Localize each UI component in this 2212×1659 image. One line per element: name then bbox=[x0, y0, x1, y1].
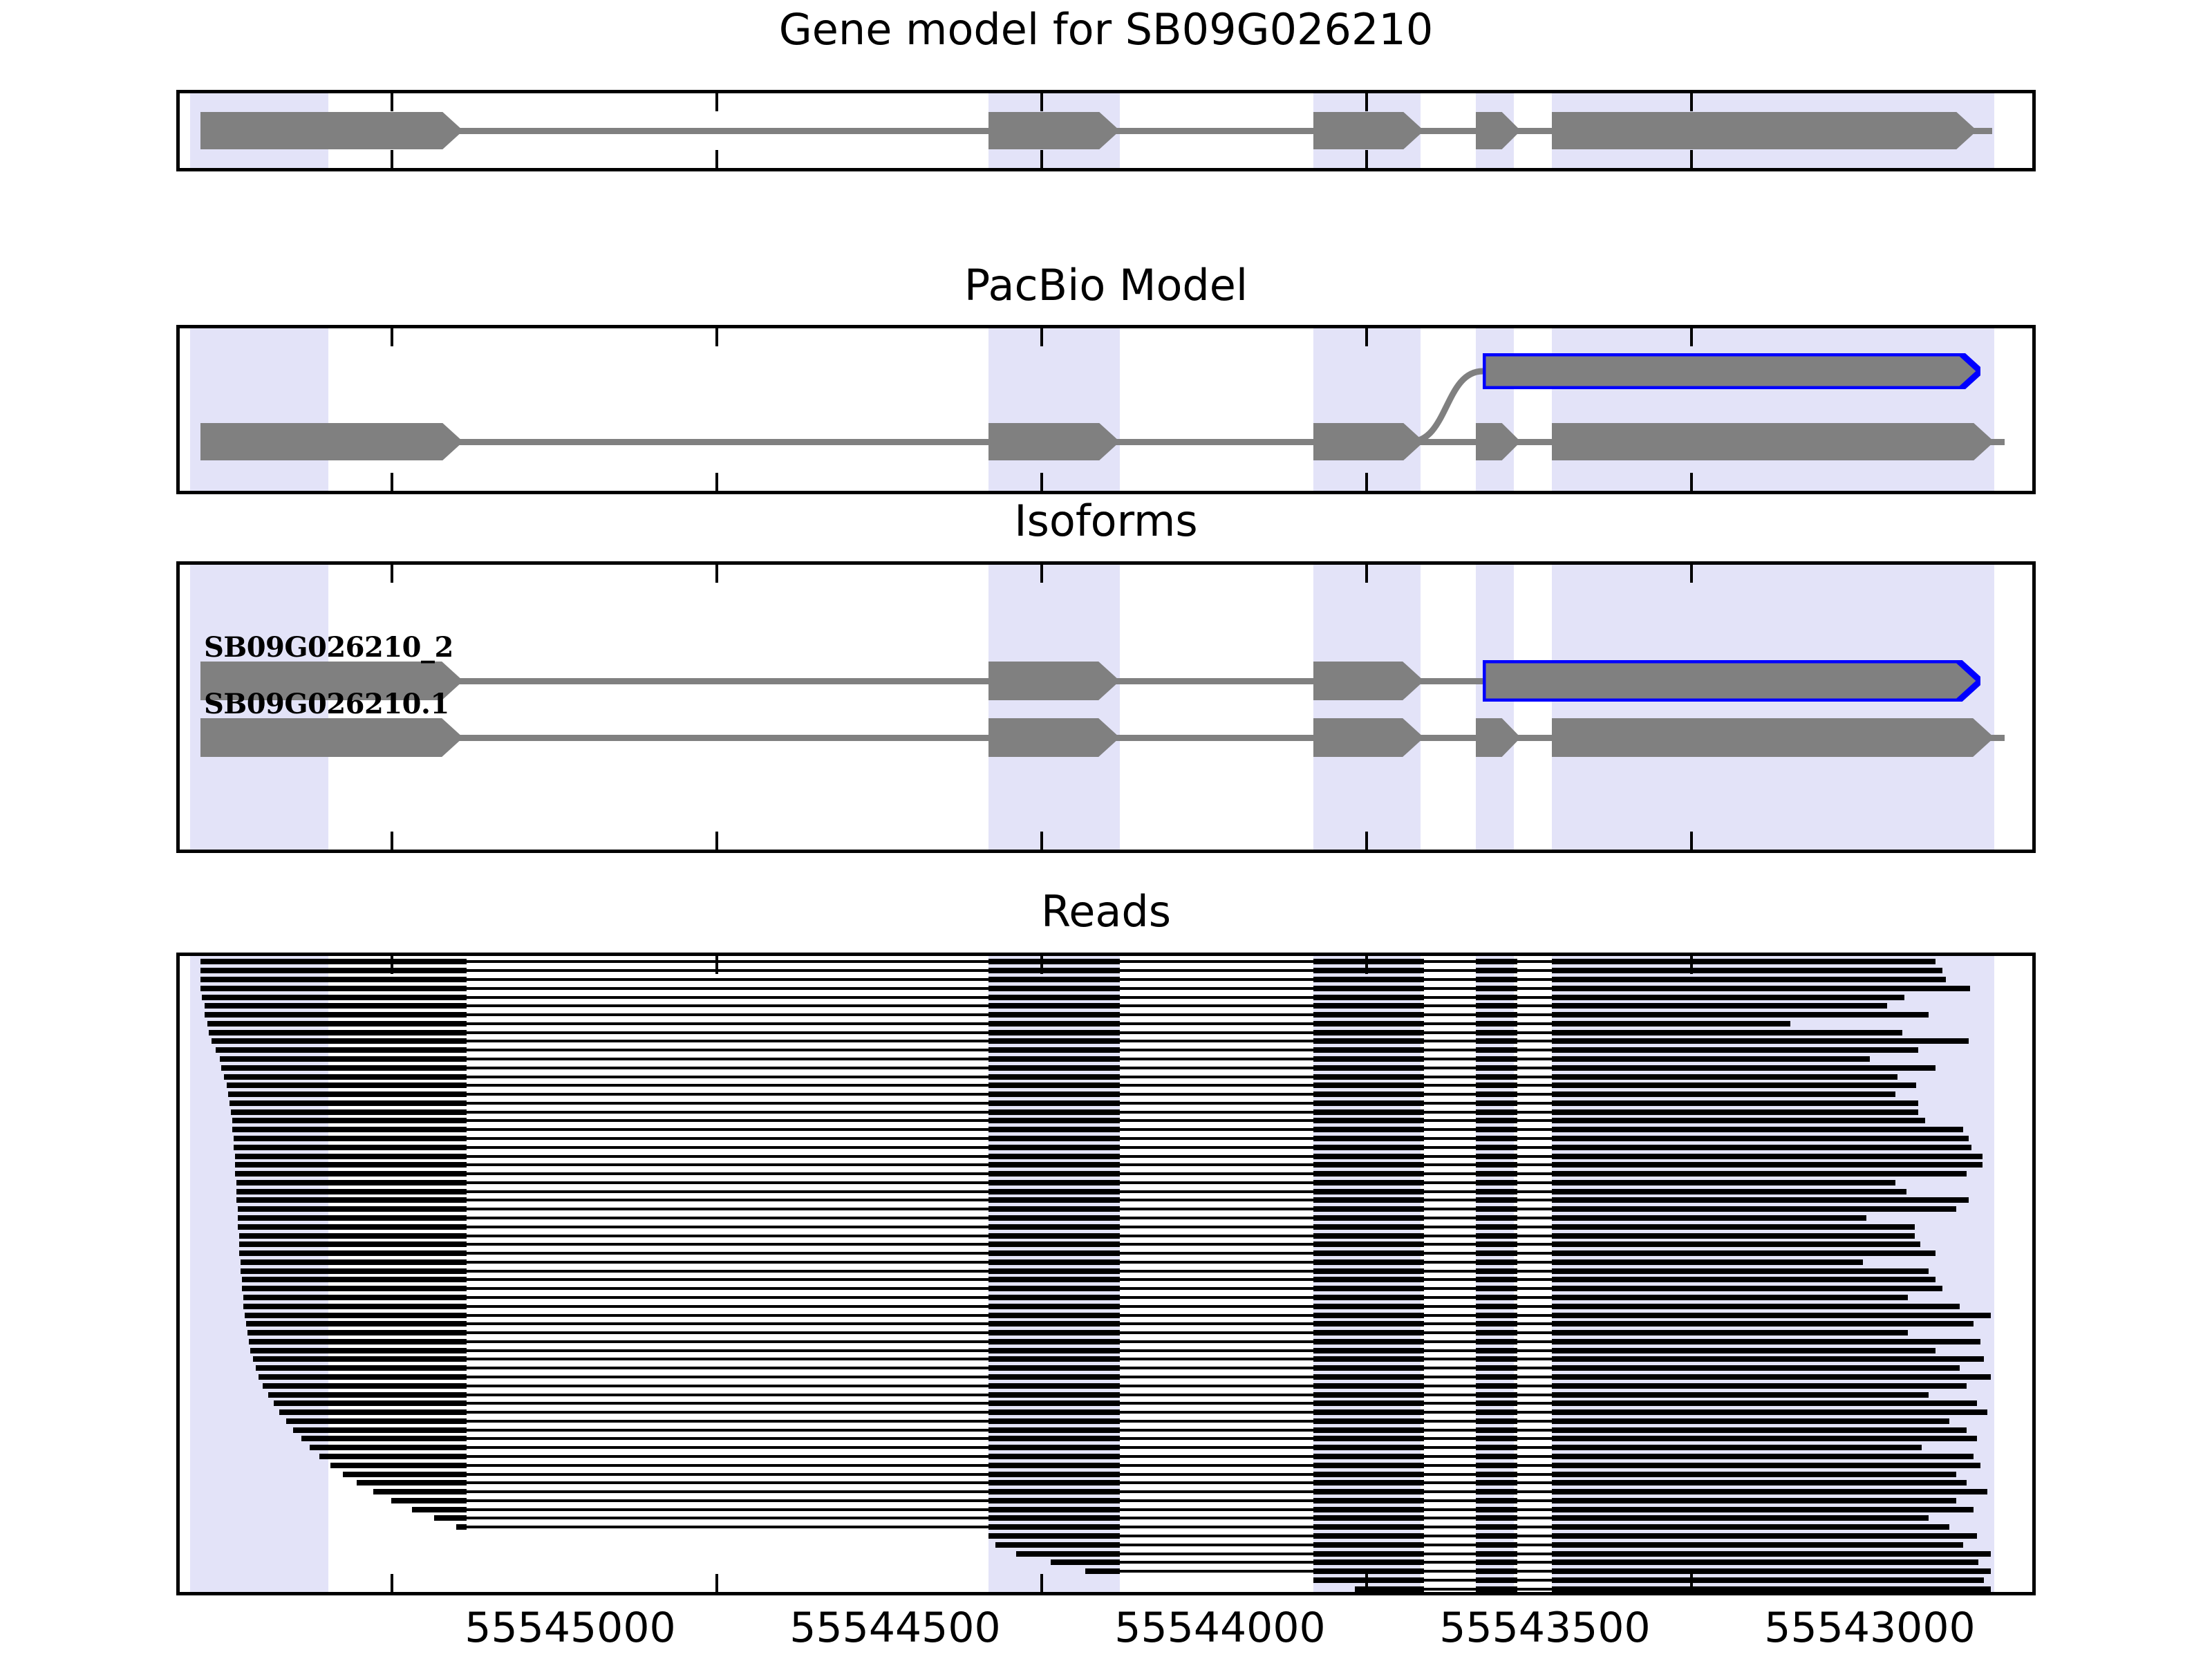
read-exon-block bbox=[1476, 1030, 1517, 1035]
read-exon-block bbox=[988, 1259, 1120, 1265]
read-exon-block bbox=[988, 1127, 1120, 1132]
read-exon-block bbox=[988, 1109, 1120, 1115]
axis-tick-bottom-55544500 bbox=[715, 473, 718, 491]
read-exon-block bbox=[1313, 1524, 1424, 1530]
exon-1 bbox=[200, 718, 463, 757]
axis-tick-bottom-55544000 bbox=[1040, 150, 1043, 168]
read-exon-block bbox=[995, 1542, 1120, 1548]
read-exon-block bbox=[988, 1171, 1120, 1177]
read-exon-block bbox=[1313, 1507, 1424, 1512]
novel-extended-exon bbox=[1483, 353, 1980, 389]
gene-model-panel bbox=[176, 90, 2036, 171]
figure-root: Gene model for SB09G026210 PacBio Model … bbox=[0, 0, 2212, 1659]
axis-tick-bottom-55543000 bbox=[1690, 832, 1693, 850]
read-exon-block bbox=[1313, 1250, 1424, 1256]
read-exon-block bbox=[1313, 1162, 1424, 1168]
read-exon-block bbox=[1552, 1313, 1991, 1318]
read-exon-block bbox=[1313, 1383, 1424, 1389]
read-exon-block bbox=[988, 1206, 1120, 1212]
read-exon-block bbox=[231, 1109, 467, 1115]
read-exon-block bbox=[207, 1021, 467, 1027]
axis-tick-top-55543500 bbox=[1365, 565, 1368, 583]
read-exon-block bbox=[1313, 1074, 1424, 1080]
read-exon-block bbox=[1476, 1392, 1517, 1398]
read-exon-block bbox=[227, 1082, 467, 1088]
axis-tick-bottom-55543000 bbox=[1690, 473, 1693, 491]
read-exon-block bbox=[988, 1445, 1120, 1450]
read-exon-block bbox=[1313, 1409, 1424, 1415]
read-exon-block bbox=[1552, 1224, 1915, 1230]
read-exon-block bbox=[988, 1356, 1120, 1362]
read-exon-block bbox=[1552, 1515, 1929, 1521]
read-exon-block bbox=[236, 1180, 467, 1185]
read-exon-block bbox=[220, 1056, 467, 1062]
read-exon-block bbox=[200, 968, 467, 973]
read-exon-block bbox=[1313, 959, 1424, 964]
x-tick-label-55544500: 55544500 bbox=[789, 1604, 1000, 1652]
read-exon-block bbox=[1552, 1427, 1967, 1433]
read-exon-block bbox=[236, 1197, 467, 1203]
read-exon-block bbox=[988, 1507, 1120, 1512]
read-exon-block bbox=[1313, 1197, 1424, 1203]
read-exon-block bbox=[239, 1241, 467, 1247]
read-exon-block bbox=[212, 1038, 467, 1044]
axis-tick-bottom-55544000 bbox=[1040, 832, 1043, 850]
read-exon-block bbox=[239, 1250, 467, 1256]
read-exon-block bbox=[988, 1454, 1120, 1459]
read-exon-block bbox=[988, 1480, 1120, 1485]
exon-2-band bbox=[988, 328, 1120, 491]
read-exon-block bbox=[1313, 1241, 1424, 1247]
read-exon-block bbox=[235, 1154, 467, 1159]
pacbio-model-panel bbox=[176, 325, 2036, 494]
read-exon-block bbox=[1313, 1021, 1424, 1027]
isoforms-panel: SB09G026210_2SB09G026210.1 bbox=[176, 561, 2036, 853]
read-exon-block bbox=[1313, 1286, 1424, 1291]
read-exon-block bbox=[988, 1524, 1120, 1530]
read-exon-block bbox=[1476, 1189, 1517, 1194]
read-exon-block bbox=[1552, 986, 1970, 991]
read-exon-block bbox=[236, 1189, 467, 1194]
read-exon-block bbox=[1476, 1118, 1517, 1123]
read-exon-block bbox=[1313, 977, 1424, 982]
read-exon-block bbox=[1476, 1215, 1517, 1221]
read-exon-block bbox=[1552, 1038, 1969, 1044]
read-exon-block bbox=[988, 1038, 1120, 1044]
read-exon-block bbox=[1476, 1241, 1517, 1247]
read-exon-block bbox=[232, 1127, 467, 1132]
read-exon-block bbox=[988, 968, 1120, 973]
read-exon-block bbox=[1552, 968, 1942, 973]
read-exon-block bbox=[1552, 1304, 1960, 1309]
read-exon-block bbox=[243, 1304, 467, 1309]
read-exon-block bbox=[1552, 1295, 1908, 1300]
read-exon-block bbox=[988, 1295, 1120, 1300]
read-exon-block bbox=[456, 1524, 467, 1530]
exon-1 bbox=[200, 423, 463, 460]
read-exon-block bbox=[988, 1189, 1120, 1194]
x-tick-label-55543500: 55543500 bbox=[1439, 1604, 1650, 1652]
read-exon-block bbox=[1313, 1038, 1424, 1044]
read-exon-block bbox=[1476, 1224, 1517, 1230]
gene-model-title: Gene model for SB09G026210 bbox=[0, 8, 2212, 51]
read-exon-block bbox=[1313, 1542, 1424, 1548]
read-exon-block bbox=[1476, 1154, 1517, 1159]
read-exon-block bbox=[241, 1268, 467, 1274]
axis-tick-top-55545000 bbox=[391, 565, 393, 583]
read-exon-block bbox=[1552, 1321, 1974, 1327]
read-exon-block bbox=[412, 1507, 467, 1512]
read-exon-block bbox=[988, 1215, 1120, 1221]
read-exon-block bbox=[1313, 1313, 1424, 1318]
read-exon-block bbox=[1476, 1356, 1517, 1362]
read-exon-block bbox=[1476, 1109, 1517, 1115]
read-exon-block bbox=[988, 1498, 1120, 1503]
read-exon-block bbox=[247, 1330, 467, 1335]
read-exon-block bbox=[330, 1463, 467, 1468]
read-exon-block bbox=[1313, 1365, 1424, 1371]
read-exon-block bbox=[1313, 1515, 1424, 1521]
read-exon-block bbox=[988, 1162, 1120, 1168]
read-exon-block bbox=[221, 1065, 467, 1071]
read-exon-block bbox=[1552, 959, 1935, 964]
read-exon-block bbox=[200, 986, 467, 991]
read-exon-block bbox=[1313, 1233, 1424, 1239]
exon-1-band bbox=[190, 328, 328, 491]
axis-tick-top-55543000 bbox=[1690, 328, 1693, 346]
read-exon-block bbox=[988, 1348, 1120, 1353]
read-exon-block bbox=[1016, 1551, 1120, 1557]
read-exon-block bbox=[238, 1224, 467, 1230]
read-exon-block bbox=[1313, 995, 1424, 1000]
read-exon-block bbox=[1313, 1030, 1424, 1035]
read-exon-block bbox=[1313, 1003, 1424, 1009]
read-exon-block bbox=[1552, 1551, 1991, 1557]
exon-2 bbox=[988, 423, 1120, 460]
read-exon-block bbox=[1552, 1507, 1974, 1512]
axis-tick-bottom-55545000 bbox=[391, 150, 393, 168]
read-exon-block bbox=[988, 1145, 1120, 1150]
axis-tick-bottom-55545000 bbox=[391, 1574, 393, 1592]
read-exon-block bbox=[1552, 1145, 1971, 1150]
read-exon-block bbox=[1313, 1321, 1424, 1327]
read-exon-block bbox=[1476, 1507, 1517, 1512]
read-exon-block bbox=[988, 1400, 1120, 1406]
read-exon-block bbox=[988, 1365, 1120, 1371]
read-exon-block bbox=[242, 1277, 467, 1282]
read-exon-block bbox=[1313, 1559, 1424, 1565]
read-exon-block bbox=[205, 1012, 467, 1018]
read-exon-block bbox=[1476, 1445, 1517, 1450]
x-tick-label-55545000: 55545000 bbox=[465, 1604, 675, 1652]
read-exon-block bbox=[1476, 1577, 1517, 1583]
read-exon-block bbox=[1476, 1409, 1517, 1415]
read-exon-block bbox=[242, 1286, 467, 1291]
read-exon-block bbox=[1313, 1339, 1424, 1344]
read-exon-block bbox=[1552, 1047, 1918, 1053]
read-exon-block bbox=[209, 1030, 467, 1035]
read-exon-block bbox=[1476, 1162, 1517, 1168]
read-exon-block bbox=[988, 1003, 1120, 1009]
read-exon-block bbox=[1552, 1259, 1863, 1265]
read-exon-block bbox=[1313, 1171, 1424, 1177]
read-exon-block bbox=[1552, 1056, 1870, 1062]
read-exon-block bbox=[1552, 1233, 1915, 1239]
exon-5 bbox=[1552, 112, 1977, 149]
read-exon-block bbox=[988, 995, 1120, 1000]
axis-tick-top-55543500 bbox=[1365, 328, 1368, 346]
read-exon-block bbox=[1476, 1383, 1517, 1389]
read-exon-block bbox=[1313, 1259, 1424, 1265]
read-exon-block bbox=[1313, 1348, 1424, 1353]
axis-tick-bottom-55543500 bbox=[1365, 832, 1368, 850]
read-exon-block bbox=[1552, 1189, 1906, 1194]
axis-tick-bottom-55544500 bbox=[715, 1574, 718, 1592]
read-exon-block bbox=[1476, 1091, 1517, 1097]
read-exon-block bbox=[1476, 1206, 1517, 1212]
read-exon-block bbox=[1552, 1374, 1991, 1380]
read-exon-block bbox=[988, 959, 1120, 964]
axis-tick-top-55545000 bbox=[391, 93, 393, 111]
read-exon-block bbox=[1552, 1348, 1935, 1353]
read-exon-block bbox=[1476, 1056, 1517, 1062]
read-exon-block bbox=[988, 1180, 1120, 1185]
read-exon-block bbox=[1476, 1374, 1517, 1380]
read-exon-block bbox=[1552, 1472, 1956, 1477]
read-exon-block bbox=[988, 1392, 1120, 1398]
read-exon-block bbox=[1476, 1074, 1517, 1080]
read-exon-block bbox=[200, 959, 467, 964]
read-exon-block bbox=[202, 995, 467, 1000]
pacbio-model-title: PacBio Model bbox=[0, 264, 2212, 307]
axis-tick-bottom-55544500 bbox=[715, 150, 718, 168]
read-exon-block bbox=[1552, 1365, 1960, 1371]
read-exon-block bbox=[1476, 1524, 1517, 1530]
x-tick-label-55544000: 55544000 bbox=[1114, 1604, 1325, 1652]
read-exon-block bbox=[293, 1427, 467, 1433]
read-exon-block bbox=[434, 1515, 467, 1521]
read-exon-block bbox=[988, 1224, 1120, 1230]
reads-title: Reads bbox=[0, 890, 2212, 933]
read-exon-block bbox=[1476, 1498, 1517, 1503]
read-exon-block bbox=[1313, 1100, 1424, 1106]
read-exon-block bbox=[1552, 1215, 1866, 1221]
read-exon-block bbox=[1552, 1162, 1983, 1168]
read-exon-block bbox=[1313, 1454, 1424, 1459]
exon-4-band bbox=[1476, 565, 1514, 850]
read-exon-block bbox=[1552, 1445, 1922, 1450]
read-exon-block bbox=[259, 1374, 467, 1380]
read-exon-block bbox=[1476, 1100, 1517, 1106]
exon-3-band bbox=[1313, 328, 1421, 491]
read-exon-block bbox=[988, 1233, 1120, 1239]
read-exon-block bbox=[1476, 1321, 1517, 1327]
read-exon-block bbox=[1051, 1559, 1120, 1565]
read-exon-block bbox=[1552, 1533, 1977, 1539]
read-exon-block bbox=[256, 1365, 467, 1371]
read-exon-block bbox=[1476, 1365, 1517, 1371]
axis-tick-top-55543500 bbox=[1365, 93, 1368, 111]
read-exon-block bbox=[1552, 1277, 1935, 1282]
read-exon-block bbox=[301, 1436, 467, 1441]
read-exon-block bbox=[1476, 959, 1517, 964]
read-exon-block bbox=[239, 1233, 467, 1239]
read-exon-block bbox=[988, 1339, 1120, 1344]
axis-tick-bottom-55543500 bbox=[1365, 473, 1368, 491]
read-exon-block bbox=[1552, 1136, 1969, 1141]
read-exon-block bbox=[205, 1003, 467, 1009]
read-exon-block bbox=[286, 1418, 467, 1424]
axis-tick-top-55544500 bbox=[715, 93, 718, 111]
read-exon-block bbox=[243, 1295, 467, 1300]
read-exon-block bbox=[1552, 1021, 1790, 1027]
read-exon-block bbox=[1476, 1339, 1517, 1344]
read-exon-block bbox=[1313, 1551, 1424, 1557]
read-exon-block bbox=[1313, 1065, 1424, 1071]
read-exon-block bbox=[1313, 1277, 1424, 1282]
read-exon-block bbox=[343, 1472, 467, 1477]
read-exon-block bbox=[1552, 1012, 1929, 1018]
axis-tick-bottom-55545000 bbox=[391, 832, 393, 850]
read-exon-block bbox=[1313, 1356, 1424, 1362]
exon-4 bbox=[1476, 112, 1521, 149]
read-exon-block bbox=[238, 1215, 467, 1221]
read-exon-block bbox=[1476, 1400, 1517, 1406]
read-exon-block bbox=[988, 1012, 1120, 1018]
read-exon-block bbox=[1313, 1127, 1424, 1132]
read-exon-block bbox=[988, 1197, 1120, 1203]
read-exon-block bbox=[1313, 1118, 1424, 1123]
exon-3-band bbox=[1313, 565, 1421, 850]
read-exon-block bbox=[988, 1489, 1120, 1494]
read-exon-block bbox=[200, 977, 467, 982]
read-exon-block bbox=[274, 1400, 467, 1406]
read-exon-block bbox=[1552, 1542, 1963, 1548]
read-exon-block bbox=[1476, 1551, 1517, 1557]
read-exon-block bbox=[1476, 1463, 1517, 1468]
read-exon-block bbox=[1313, 1056, 1424, 1062]
read-exon-block bbox=[1476, 1533, 1517, 1539]
read-exon-block bbox=[1313, 1330, 1424, 1335]
read-exon-block bbox=[1313, 1268, 1424, 1274]
read-exon-block bbox=[1476, 1277, 1517, 1282]
read-exon-block bbox=[1476, 1065, 1517, 1071]
axis-tick-bottom-55543500 bbox=[1365, 150, 1368, 168]
read-exon-block bbox=[1476, 1250, 1517, 1256]
axis-tick-top-55545000 bbox=[391, 328, 393, 346]
read-exon-block bbox=[988, 1154, 1120, 1159]
read-exon-block bbox=[1313, 1418, 1424, 1424]
read-exon-block bbox=[1313, 1215, 1424, 1221]
read-exon-block bbox=[1313, 1136, 1424, 1141]
read-exon-block bbox=[1476, 1259, 1517, 1265]
read-exon-block bbox=[1476, 1586, 1517, 1592]
read-exon-block bbox=[1552, 1065, 1935, 1071]
read-exon-block bbox=[988, 1030, 1120, 1035]
read-exon-block bbox=[1552, 1180, 1895, 1185]
read-exon-block bbox=[1552, 1577, 1984, 1583]
read-exon-block bbox=[1476, 1427, 1517, 1433]
read-exon-block bbox=[310, 1445, 467, 1450]
read-exon-block bbox=[1552, 1463, 1980, 1468]
read-exon-block bbox=[224, 1074, 467, 1080]
read-exon-block bbox=[1552, 1286, 1942, 1291]
read-exon-block bbox=[229, 1100, 467, 1106]
read-exon-block bbox=[988, 1330, 1120, 1335]
read-exon-block bbox=[1476, 1559, 1517, 1565]
read-exon-block bbox=[1476, 1136, 1517, 1141]
read-exon-block bbox=[1476, 1003, 1517, 1009]
read-exon-block bbox=[249, 1339, 467, 1344]
axis-tick-bottom-55544500 bbox=[715, 832, 718, 850]
read-exon-block bbox=[1476, 1568, 1517, 1574]
read-exon-block bbox=[235, 1162, 467, 1168]
read-exon-block bbox=[1313, 1568, 1424, 1574]
exon-4 bbox=[1476, 718, 1521, 757]
exon-5 bbox=[1552, 423, 1994, 460]
read-exon-block bbox=[1313, 968, 1424, 973]
read-exon-block bbox=[1476, 986, 1517, 991]
read-exon-block bbox=[1476, 1489, 1517, 1494]
read-exon-block bbox=[1313, 1436, 1424, 1441]
read-exon-block bbox=[1476, 1330, 1517, 1335]
read-exon-block bbox=[1476, 977, 1517, 982]
read-exon-block bbox=[1552, 1418, 1949, 1424]
read-exon-block bbox=[1313, 1091, 1424, 1097]
read-exon-block bbox=[988, 1065, 1120, 1071]
read-exon-block bbox=[246, 1321, 467, 1327]
read-exon-block bbox=[1476, 1038, 1517, 1044]
exon-2 bbox=[988, 112, 1120, 149]
read-exon-block bbox=[1476, 1313, 1517, 1318]
read-exon-block bbox=[988, 1250, 1120, 1256]
exon-5-band bbox=[1552, 565, 1994, 850]
read-exon-block bbox=[1552, 1197, 1969, 1203]
extended-last-exon bbox=[1483, 660, 1980, 702]
read-exon-block bbox=[1552, 1356, 1984, 1362]
read-exon-block bbox=[1313, 1498, 1424, 1503]
read-exon-block bbox=[1552, 1383, 1967, 1389]
read-exon-block bbox=[1085, 1568, 1120, 1574]
read-exon-block bbox=[1552, 1489, 1987, 1494]
read-exon-block bbox=[1476, 1127, 1517, 1132]
read-exon-block bbox=[1313, 1480, 1424, 1485]
read-exon-block bbox=[1552, 1171, 1967, 1177]
read-exon-block bbox=[1476, 1021, 1517, 1027]
read-exon-block bbox=[988, 1515, 1120, 1521]
exon-2 bbox=[988, 718, 1120, 757]
read-exon-block bbox=[1313, 1047, 1424, 1053]
read-exon-block bbox=[988, 1021, 1120, 1027]
read-exon-block bbox=[1552, 1030, 1902, 1035]
read-exon-block bbox=[1476, 1472, 1517, 1477]
exon-3 bbox=[1313, 662, 1424, 700]
read-exon-block bbox=[1313, 1206, 1424, 1212]
read-exon-block bbox=[1476, 995, 1517, 1000]
read-exon-block bbox=[1476, 1180, 1517, 1185]
read-exon-block bbox=[253, 1356, 467, 1362]
read-exon-block bbox=[1313, 1374, 1424, 1380]
read-exon-block bbox=[1552, 1109, 1918, 1115]
read-exon-block bbox=[234, 1145, 467, 1150]
read-exon-block bbox=[988, 1418, 1120, 1424]
read-exon-block bbox=[1476, 1436, 1517, 1441]
exon-4 bbox=[1476, 423, 1521, 460]
read-exon-block bbox=[263, 1383, 467, 1389]
read-exon-block bbox=[988, 1268, 1120, 1274]
read-exon-block bbox=[1476, 1348, 1517, 1353]
read-exon-block bbox=[988, 986, 1120, 991]
